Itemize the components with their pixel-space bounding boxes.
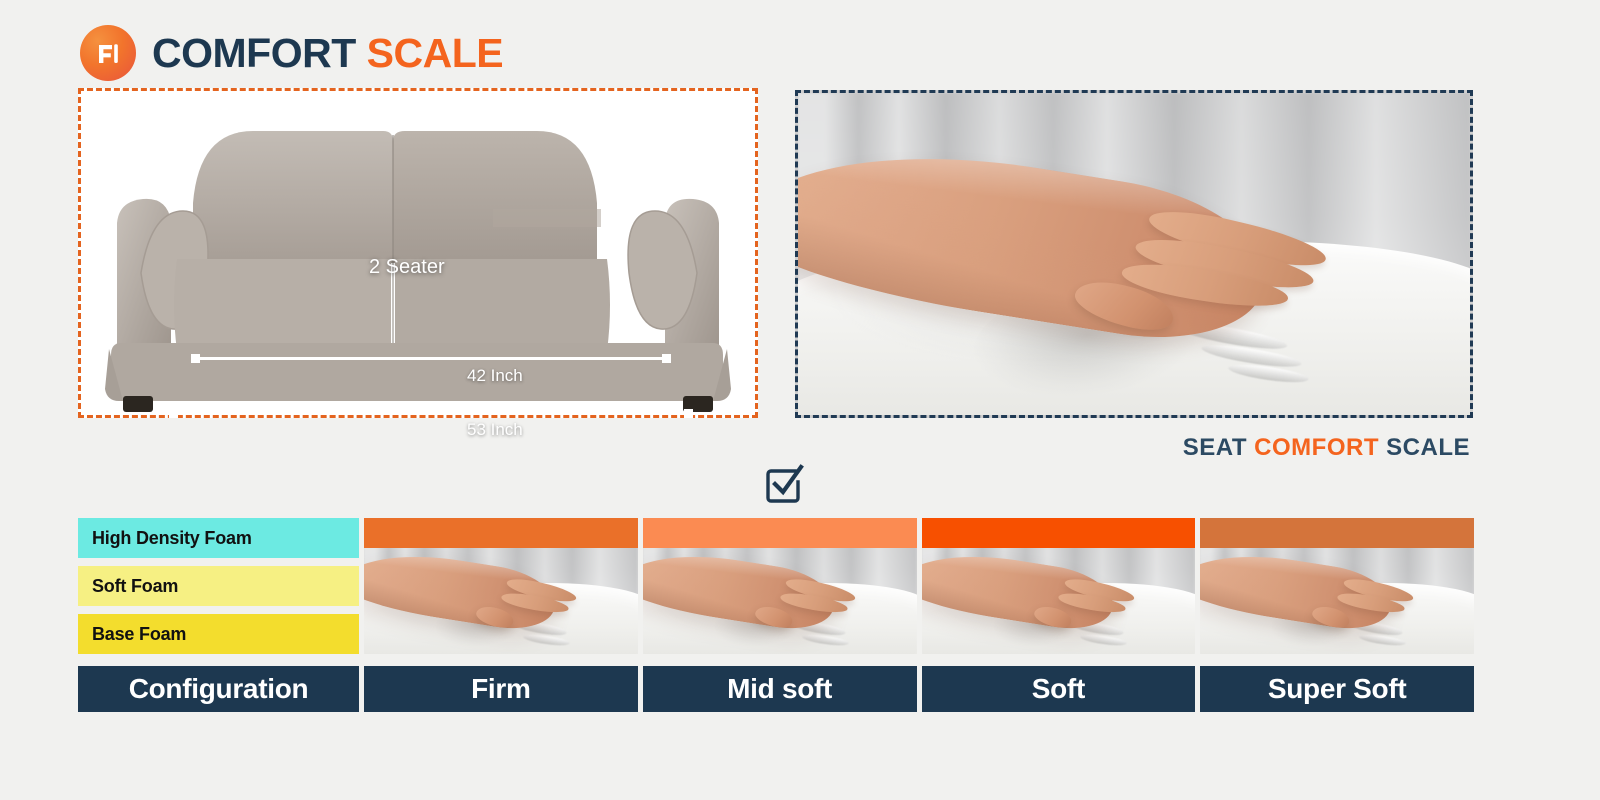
caption-part-3: SCALE <box>1386 434 1470 461</box>
config-option-soft[interactable]: Soft <box>922 666 1196 712</box>
config-option-label: Super Soft <box>1268 673 1407 705</box>
legend-base-foam: Base Foam <box>78 614 359 654</box>
overall-width-dimension-label: 53 Inch <box>467 420 523 440</box>
sofa-illustration: 42 Inch 53 Inch 2 Seater <box>81 91 755 415</box>
legend-soft-foam: Soft Foam <box>78 566 359 606</box>
legend-label: Base Foam <box>92 624 186 645</box>
title-primary: COMFORT <box>152 30 356 76</box>
checkbox-checked-icon <box>760 460 806 506</box>
legend-high-density-foam: High Density Foam <box>78 518 359 558</box>
card-mid-soft[interactable] <box>643 518 917 654</box>
card-firm[interactable] <box>364 518 638 654</box>
comfort-card-list <box>364 518 1474 654</box>
configuration-header-cell: Configuration <box>78 666 359 712</box>
config-option-firm[interactable]: Firm <box>364 666 638 712</box>
caption-part-2: COMFORT <box>1254 434 1379 461</box>
hand-on-foam-photo <box>798 93 1470 415</box>
config-option-mid-soft[interactable]: Mid soft <box>643 666 917 712</box>
overall-width-dimension-line <box>169 406 693 420</box>
config-option-label: Mid soft <box>727 673 832 705</box>
card-super-soft[interactable] <box>1200 518 1474 654</box>
legend-label: Soft Foam <box>92 576 178 597</box>
config-option-label: Soft <box>1032 673 1085 705</box>
configuration-header-label: Configuration <box>129 673 309 705</box>
seat-comfort-scale-caption: SEAT COMFORT SCALE <box>1183 434 1470 462</box>
page-title: COMFORT SCALE <box>152 33 503 74</box>
card-color-band <box>643 518 917 548</box>
card-soft[interactable] <box>922 518 1196 654</box>
foam-layer-legend: High Density Foam Soft Foam Base Foam <box>78 518 359 654</box>
config-option-label: Firm <box>471 673 530 705</box>
card-color-band <box>922 518 1196 548</box>
card-color-band <box>364 518 638 548</box>
foam-photo-panel <box>795 90 1473 418</box>
sofa-dimension-panel: 42 Inch 53 Inch 2 Seater <box>78 88 758 418</box>
comfort-scale-infographic: COMFORT SCALE <box>0 0 1600 800</box>
seat-width-dimension-label: 42 Inch <box>467 366 523 386</box>
page-header: COMFORT SCALE <box>80 25 503 81</box>
configuration-label-row: Configuration Firm Mid soft Soft Super S… <box>78 666 1474 712</box>
legend-label: High Density Foam <box>92 528 252 549</box>
caption-part-1: SEAT <box>1183 434 1247 461</box>
legend-spacer <box>78 606 359 614</box>
legend-spacer <box>78 558 359 566</box>
seat-width-dimension-line <box>191 351 671 365</box>
seater-capacity-label: 2 Seater <box>369 256 445 279</box>
config-option-super-soft[interactable]: Super Soft <box>1200 666 1474 712</box>
fl-monogram-logo-icon <box>80 25 136 81</box>
comparison-body: High Density Foam Soft Foam Base Foam <box>78 518 1474 654</box>
card-color-band <box>1200 518 1474 548</box>
comfort-comparison-grid: High Density Foam Soft Foam Base Foam <box>78 518 1474 712</box>
title-accent: SCALE <box>367 30 503 76</box>
